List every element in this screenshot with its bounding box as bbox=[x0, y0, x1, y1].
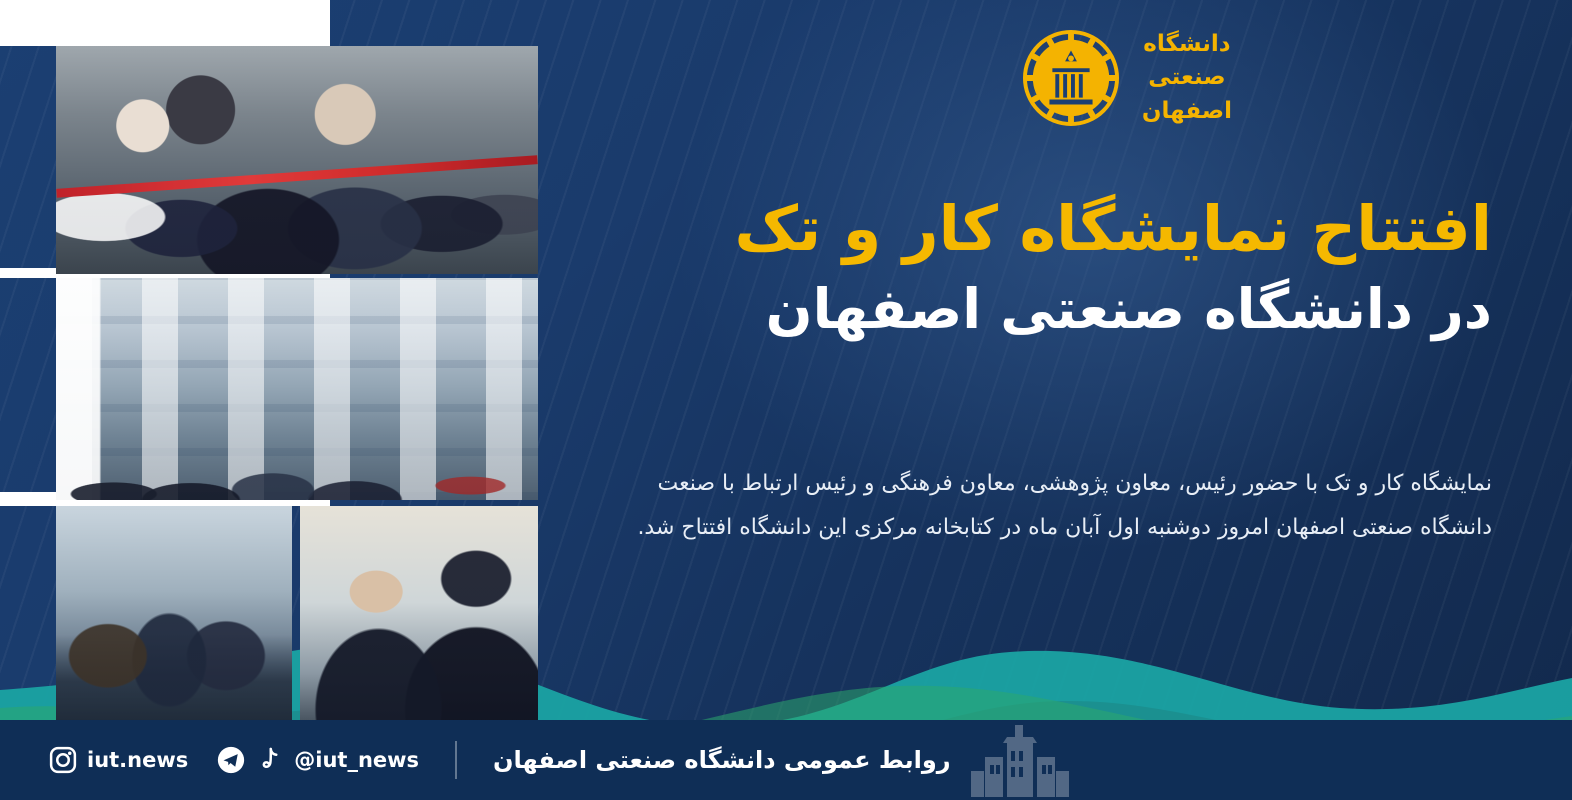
instagram-icon bbox=[48, 745, 78, 775]
telegram-account[interactable]: @iut_news bbox=[216, 745, 419, 775]
photo-ev-charging-station-demo bbox=[56, 506, 292, 720]
photo-visitors-shapes bbox=[56, 380, 538, 500]
telegram-handle: @iut_news bbox=[294, 748, 419, 772]
photo-figures-shapes bbox=[56, 506, 292, 720]
university-logo: دانشگاه صنعتی اصفهان bbox=[1022, 28, 1232, 128]
thread-icon bbox=[255, 745, 285, 775]
telegram-icon bbox=[216, 745, 246, 775]
headline-line-1: افتتاح نمایشگاه کار و تک bbox=[712, 190, 1492, 268]
iut-emblem-icon bbox=[1022, 29, 1120, 127]
poster-canvas: دانشگاه صنعتی اصفهان bbox=[0, 0, 1572, 800]
photo-visitors-at-booth bbox=[300, 506, 538, 720]
public-relations-label: روابط عمومی دانشگاه صنعتی اصفهان bbox=[493, 746, 951, 774]
headline-line-2: در دانشگاه صنعتی اصفهان bbox=[712, 274, 1492, 346]
footer-bar: iut.news @iut_news روابط عمومی دانشگاه ص… bbox=[0, 720, 1572, 800]
logo-line-2: صنعتی bbox=[1142, 61, 1232, 94]
body-paragraph: نمایشگاه کار و تک با حضور رئیس، معاون پژ… bbox=[632, 462, 1492, 550]
photo-ribbon-cutting-ceremony bbox=[56, 46, 538, 274]
photo-figures-shapes bbox=[300, 506, 538, 720]
instagram-account[interactable]: iut.news bbox=[48, 745, 188, 775]
iut-tower-icon bbox=[965, 723, 1075, 797]
instagram-handle: iut.news bbox=[87, 748, 188, 772]
university-logo-text: دانشگاه صنعتی اصفهان bbox=[1142, 28, 1232, 128]
collage-white-band-top bbox=[0, 0, 330, 46]
logo-line-3: اصفهان bbox=[1142, 95, 1232, 128]
logo-line-1: دانشگاه bbox=[1142, 28, 1232, 61]
photo-exhibition-booths-hall bbox=[56, 278, 538, 500]
footer-divider bbox=[455, 741, 457, 779]
photo-collage bbox=[0, 0, 560, 720]
headline: افتتاح نمایشگاه کار و تک در دانشگاه صنعت… bbox=[712, 190, 1492, 345]
